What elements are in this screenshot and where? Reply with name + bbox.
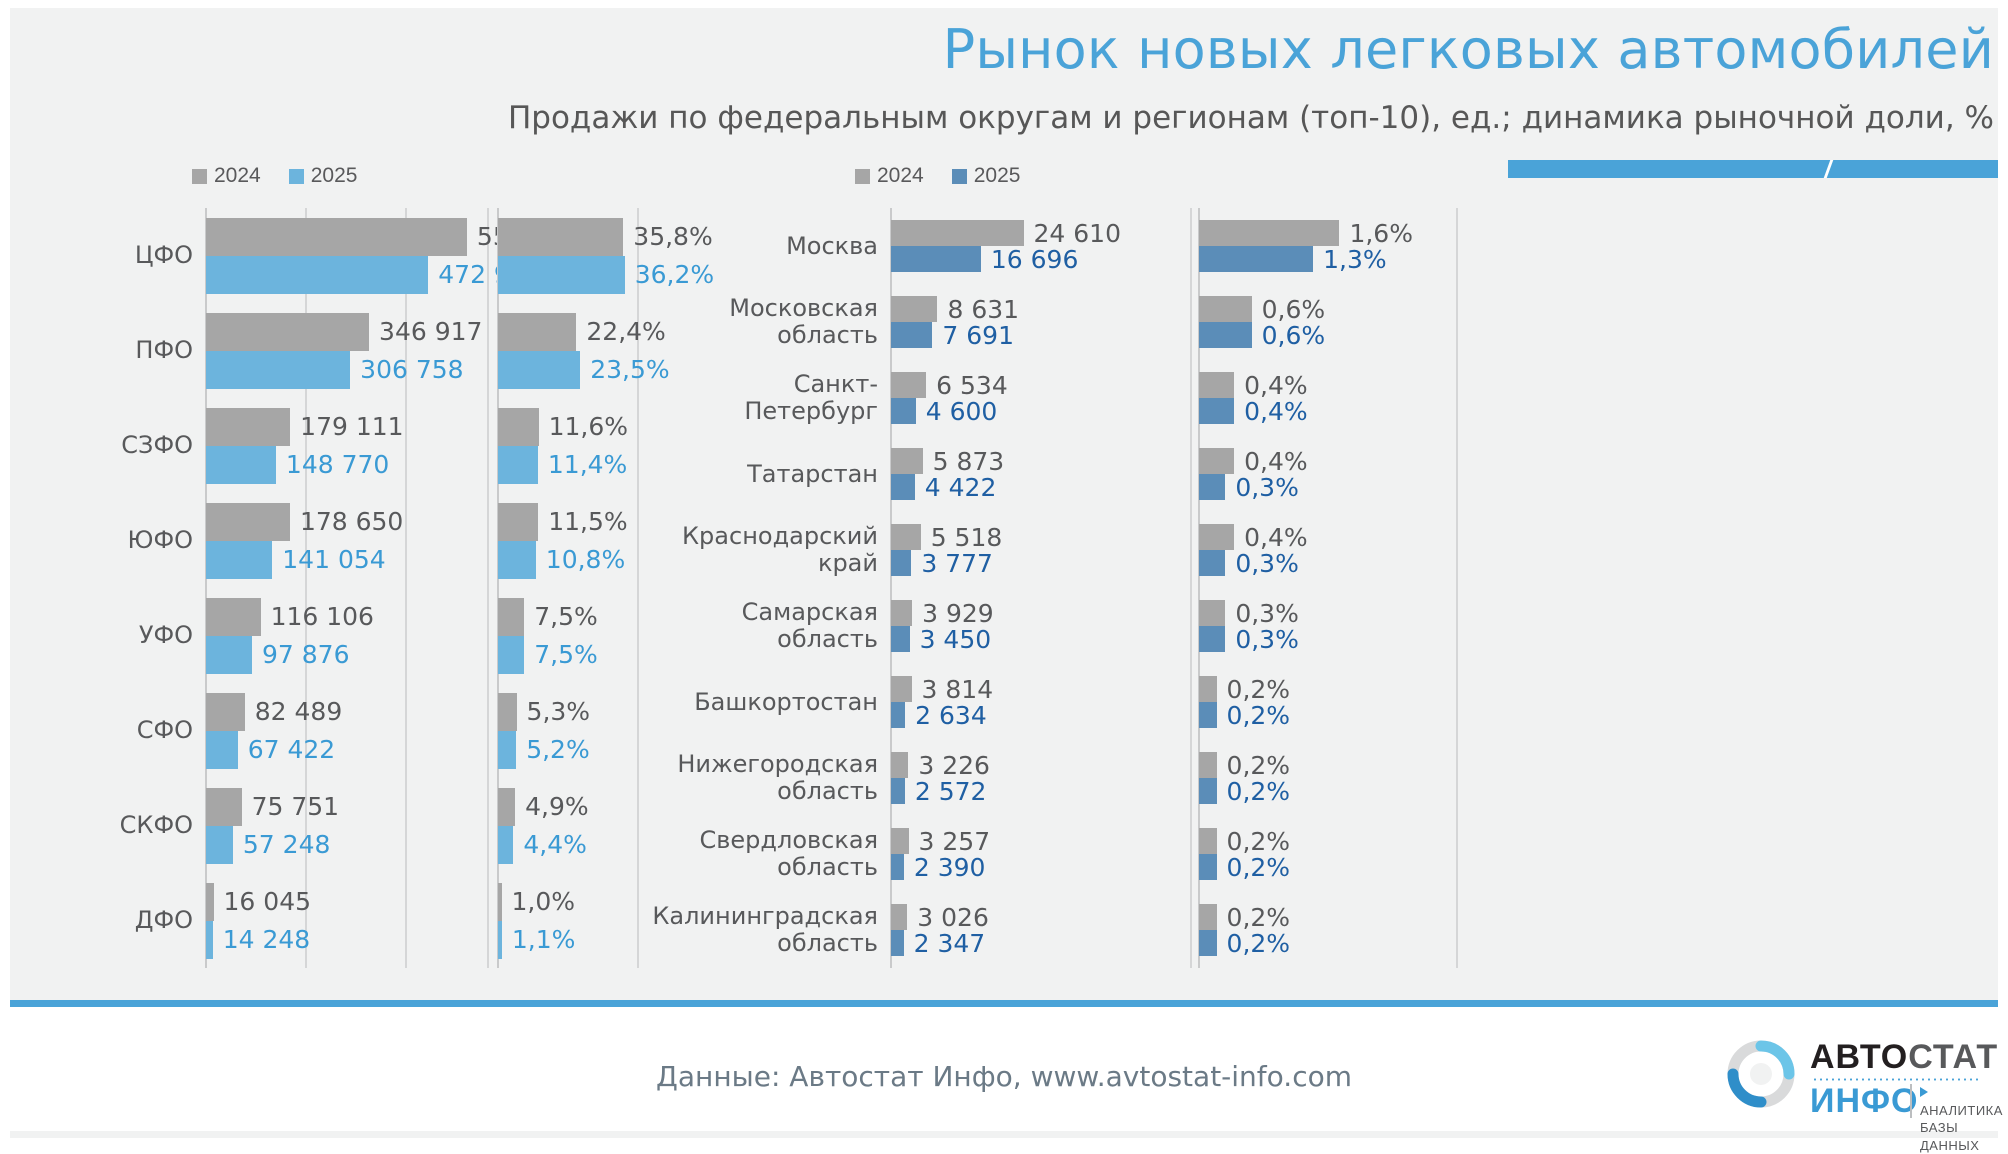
value-label-2024: 1,6% <box>1349 220 1413 246</box>
value-label-2024: 11,6% <box>549 408 628 446</box>
category-label: Татарстан <box>693 436 878 512</box>
chart-row: 0,4%0,3% <box>1198 512 1498 588</box>
bar-2025 <box>891 854 904 880</box>
value-label-2025: 2 390 <box>914 854 986 880</box>
page-edge-right <box>1998 0 2008 1138</box>
bar-2024 <box>206 693 245 731</box>
chart-row: СЗФО179 111148 770 <box>70 398 500 493</box>
bar-2024 <box>206 408 290 446</box>
value-label-2025: 7,5% <box>534 636 598 674</box>
chart4-plot: 1,6%1,3%0,6%0,6%0,4%0,4%0,4%0,3%0,4%0,3%… <box>1198 208 1498 968</box>
bar-2025 <box>1199 702 1217 728</box>
value-label-2024: 11,5% <box>548 503 627 541</box>
value-label-2024: 116 106 <box>271 598 374 636</box>
category-label: СФО <box>73 683 193 778</box>
value-label-2024: 75 751 <box>252 788 339 826</box>
bar-2024 <box>891 524 921 550</box>
chart-row: 0,6%0,6% <box>1198 284 1498 360</box>
category-label: ПФО <box>73 303 193 398</box>
bar-2024 <box>498 218 623 256</box>
value-label-2025: 57 248 <box>243 826 330 864</box>
value-label-2025: 141 054 <box>282 541 385 579</box>
bar-2024 <box>498 693 517 731</box>
bar-2024 <box>498 313 576 351</box>
value-label-2024: 0,2% <box>1227 904 1291 930</box>
chart-row: Самарскаяобласть3 9293 450 <box>700 588 1200 664</box>
category-label: Московскаяобласть <box>693 284 878 360</box>
value-label-2024: 6 534 <box>936 372 1008 398</box>
chart-row: 0,2%0,2% <box>1198 664 1498 740</box>
chart-okrug-sales: 2024 2025 ЦФО555 180472 923ПФО346 917306… <box>70 160 500 970</box>
category-label: ЮФО <box>73 493 193 588</box>
bar-2024 <box>891 752 908 778</box>
bar-2025 <box>1199 930 1217 956</box>
chart-row: Калининградскаяобласть3 0262 347 <box>700 892 1200 968</box>
value-label-2025: 4 600 <box>926 398 998 424</box>
logo-dotted-rule <box>1812 1078 1980 1081</box>
value-label-2024: 5,3% <box>527 693 591 731</box>
chart-row: 0,3%0,3% <box>1198 588 1498 664</box>
value-label-2024: 5 518 <box>931 524 1003 550</box>
chart-row: Татарстан5 8734 422 <box>700 436 1200 512</box>
value-label-2024: 178 650 <box>300 503 403 541</box>
bar-2025 <box>1199 626 1225 652</box>
bar-2024 <box>891 904 907 930</box>
bar-2024 <box>1199 828 1217 854</box>
value-label-2024: 22,4% <box>586 313 665 351</box>
bar-2025 <box>1199 398 1234 424</box>
value-label-2025: 0,3% <box>1235 626 1299 652</box>
chart-row: ПФО346 917306 758 <box>70 303 500 398</box>
value-label-2024: 0,2% <box>1227 676 1291 702</box>
logo-tagline-line2: БАЗЫ ДАННЫХ <box>1920 1120 1979 1153</box>
value-label-2024: 0,6% <box>1262 296 1326 322</box>
bar-2024 <box>498 598 524 636</box>
bar-2025 <box>891 778 905 804</box>
legend-label-2024: 2024 <box>877 164 924 188</box>
chart3-plot: Москва24 61016 696Московскаяобласть8 631… <box>700 208 1200 968</box>
value-label-2024: 0,2% <box>1227 828 1291 854</box>
bar-2025 <box>1199 778 1217 804</box>
logo-tagline: АНАЛИТИКА БАЗЫ ДАННЫХ <box>1920 1084 2003 1154</box>
value-label-2024: 0,2% <box>1227 752 1291 778</box>
value-label-2024: 3 226 <box>918 752 990 778</box>
chart-row: Нижегородскаяобласть3 2262 572 <box>700 740 1200 816</box>
value-label-2024: 24 610 <box>1034 220 1121 246</box>
bar-2025 <box>498 541 536 579</box>
category-label: СКФО <box>73 778 193 873</box>
bar-2025 <box>206 921 213 959</box>
bar-2024 <box>891 448 923 474</box>
chart-region-share: 1,6%1,3%0,6%0,6%0,4%0,4%0,4%0,3%0,4%0,3%… <box>1198 160 1498 970</box>
bar-2025 <box>891 322 932 348</box>
chart-row: 0,2%0,2% <box>1198 892 1498 968</box>
bar-2024 <box>498 788 515 826</box>
value-label-2024: 8 631 <box>947 296 1019 322</box>
bar-2024 <box>1199 904 1217 930</box>
bar-2025 <box>1199 322 1252 348</box>
legend-item-2025: 2025 <box>952 164 1021 188</box>
bar-2025 <box>1199 550 1225 576</box>
category-label: Самарскаяобласть <box>693 588 878 664</box>
bar-2024 <box>891 372 926 398</box>
value-label-2025: 0,3% <box>1235 550 1299 576</box>
value-label-2025: 14 248 <box>223 921 310 959</box>
bar-2025 <box>498 921 502 959</box>
bar-2025 <box>891 930 904 956</box>
value-label-2025: 5,2% <box>526 731 590 769</box>
bar-2025 <box>498 351 580 389</box>
chart-row: ЮФО178 650141 054 <box>70 493 500 588</box>
value-label-2025: 1,1% <box>512 921 576 959</box>
value-label-2025: 16 696 <box>991 246 1078 272</box>
chart-row: УФО116 10697 876 <box>70 588 500 683</box>
value-label-2024: 1,0% <box>512 883 576 921</box>
legend-item-2025: 2025 <box>289 164 358 188</box>
bar-2024 <box>891 828 909 854</box>
chart-row: Краснодарскийкрай5 5183 777 <box>700 512 1200 588</box>
value-label-2025: 11,4% <box>548 446 627 484</box>
value-label-2025: 0,2% <box>1227 702 1291 728</box>
chart1-plot: ЦФО555 180472 923ПФО346 917306 758СЗФО17… <box>70 208 500 968</box>
bar-2025 <box>206 636 252 674</box>
avtostat-info-logo: АВТОСТАТ ИНФО АНАЛИТИКА БАЗЫ ДАННЫХ <box>1720 1028 1982 1120</box>
value-label-2024: 3 814 <box>922 676 994 702</box>
legend-swatch-2025 <box>289 169 304 184</box>
value-label-2025: 0,2% <box>1227 778 1291 804</box>
bar-2025 <box>891 398 916 424</box>
logo-wordmark-top: АВТОСТАТ <box>1810 1038 1998 1077</box>
bar-2025 <box>498 446 538 484</box>
page-edge-left <box>0 0 10 1138</box>
value-label-2025: 0,2% <box>1227 854 1291 880</box>
bar-2025 <box>891 246 981 272</box>
category-label: ДФО <box>73 873 193 968</box>
bar-2024 <box>206 788 242 826</box>
chart-row: СФО82 48967 422 <box>70 683 500 778</box>
bar-2024 <box>1199 296 1252 322</box>
bar-2024 <box>206 313 369 351</box>
category-label: Москва <box>693 208 878 284</box>
header: Рынок новых легковых автомобилей Продажи… <box>0 0 2008 160</box>
bar-2024 <box>498 883 502 921</box>
bar-2024 <box>891 600 912 626</box>
chart-row: Свердловскаяобласть3 2572 390 <box>700 816 1200 892</box>
value-label-2024: 4,9% <box>525 788 589 826</box>
value-label-2025: 0,4% <box>1244 398 1308 424</box>
value-label-2025: 10,8% <box>546 541 625 579</box>
value-label-2025: 0,3% <box>1235 474 1299 500</box>
bar-2024 <box>891 676 912 702</box>
category-label: СЗФО <box>73 398 193 493</box>
bar-2025 <box>498 256 625 294</box>
footer-source-text: Данные: Автостат Инфо, www.avtostat-info… <box>0 1060 2008 1093</box>
value-label-2025: 0,2% <box>1227 930 1291 956</box>
bar-2024 <box>891 220 1024 246</box>
value-label-2025: 0,6% <box>1262 322 1326 348</box>
bar-2025 <box>206 351 350 389</box>
chart-region-sales: 2024 2025 Москва24 61016 696Московскаяоб… <box>700 160 1200 970</box>
bar-2025 <box>206 541 272 579</box>
value-label-2025: 3 450 <box>920 626 992 652</box>
category-label: ЦФО <box>73 208 193 303</box>
bar-2024 <box>1199 220 1339 246</box>
footer-accent-rule <box>10 1000 1998 1007</box>
page-subtitle: Продажи по федеральным округам и региона… <box>508 100 1994 136</box>
chart-row: 0,4%0,3% <box>1198 436 1498 512</box>
chart-row: Москва24 61016 696 <box>700 208 1200 284</box>
legend-swatch-2024 <box>192 169 207 184</box>
bar-2025 <box>498 636 524 674</box>
bar-2024 <box>1199 524 1234 550</box>
bar-2024 <box>206 883 214 921</box>
bar-2025 <box>891 702 905 728</box>
logo-play-triangle-icon <box>1920 1087 1928 1097</box>
bar-2024 <box>1199 448 1234 474</box>
value-label-2024: 346 917 <box>379 313 482 351</box>
header-accent-bar <box>1508 160 1998 178</box>
logo-word-avto: АВТО <box>1810 1038 1908 1076</box>
chart-row: 0,4%0,4% <box>1198 360 1498 436</box>
category-label: Калининградскаяобласть <box>693 892 878 968</box>
bar-2024 <box>206 598 261 636</box>
chart-row: 0,2%0,2% <box>1198 816 1498 892</box>
value-label-2024: 3 929 <box>922 600 994 626</box>
legend-swatch-2025 <box>952 169 967 184</box>
category-label: Свердловскаяобласть <box>693 816 878 892</box>
legend-label-2024: 2024 <box>214 164 261 188</box>
bar-2024 <box>498 408 539 446</box>
chart-row: Санкт-Петербург6 5344 600 <box>700 360 1200 436</box>
chart3-legend: 2024 2025 <box>855 164 1020 188</box>
value-label-2025: 3 777 <box>921 550 993 576</box>
logo-swirl-icon <box>1720 1034 1802 1114</box>
infographic-page: Рынок новых легковых автомобилей Продажи… <box>0 0 2008 1138</box>
bar-2025 <box>1199 246 1313 272</box>
chart-row: Башкортостан3 8142 634 <box>700 664 1200 740</box>
value-label-2025: 148 770 <box>286 446 389 484</box>
bar-2024 <box>891 296 937 322</box>
value-label-2024: 3 026 <box>917 904 989 930</box>
chart-row: ЦФО555 180472 923 <box>70 208 500 303</box>
chart-row: 0,2%0,2% <box>1198 740 1498 816</box>
value-label-2024: 0,4% <box>1244 448 1308 474</box>
bar-2024 <box>498 503 538 541</box>
chart-row: СКФО75 75157 248 <box>70 778 500 873</box>
value-label-2025: 2 347 <box>914 930 986 956</box>
bar-2025 <box>498 826 513 864</box>
bar-2024 <box>1199 600 1225 626</box>
value-label-2025: 2 572 <box>915 778 987 804</box>
value-label-2024: 179 111 <box>300 408 403 446</box>
chart-row: Московскаяобласть8 6317 691 <box>700 284 1200 360</box>
legend-item-2024: 2024 <box>855 164 924 188</box>
chart1-legend: 2024 2025 <box>192 164 357 188</box>
bar-2024 <box>206 503 290 541</box>
bar-2024 <box>206 218 467 256</box>
category-label: Санкт-Петербург <box>693 360 878 436</box>
value-label-2024: 16 045 <box>224 883 311 921</box>
legend-swatch-2024 <box>855 169 870 184</box>
bar-2025 <box>206 256 428 294</box>
value-label-2025: 97 876 <box>262 636 349 674</box>
value-label-2025: 67 422 <box>248 731 335 769</box>
value-label-2025: 23,5% <box>590 351 669 389</box>
bar-2025 <box>891 474 915 500</box>
value-label-2024: 82 489 <box>255 693 342 731</box>
value-label-2024: 0,4% <box>1244 372 1308 398</box>
bar-2024 <box>1199 752 1217 778</box>
chart-row: 1,6%1,3% <box>1198 208 1498 284</box>
bar-2025 <box>206 446 276 484</box>
value-label-2024: 5 873 <box>933 448 1005 474</box>
value-label-2024: 3 257 <box>919 828 991 854</box>
legend-label-2025: 2025 <box>311 164 358 188</box>
bar-2024 <box>1199 372 1234 398</box>
bar-2025 <box>891 550 911 576</box>
bar-2025 <box>891 626 910 652</box>
bar-2025 <box>206 826 233 864</box>
page-title: Рынок новых легковых автомобилей <box>943 18 1994 81</box>
bar-2025 <box>1199 854 1217 880</box>
legend-label-2025: 2025 <box>974 164 1021 188</box>
category-label: Нижегородскаяобласть <box>693 740 878 816</box>
bar-2025 <box>498 731 516 769</box>
logo-divider <box>1910 1084 1912 1118</box>
category-label: Краснодарскийкрай <box>693 512 878 588</box>
logo-word-stat: СТАТ <box>1908 1038 1998 1076</box>
value-label-2025: 4 422 <box>925 474 997 500</box>
category-label: УФО <box>73 588 193 683</box>
value-label-2025: 4,4% <box>523 826 587 864</box>
bar-2024 <box>1199 676 1217 702</box>
value-label-2024: 7,5% <box>534 598 598 636</box>
category-label: Башкортостан <box>693 664 878 740</box>
value-label-2024: 0,4% <box>1244 524 1308 550</box>
legend-item-2024: 2024 <box>192 164 261 188</box>
bar-2025 <box>1199 474 1225 500</box>
value-label-2025: 306 758 <box>360 351 463 389</box>
value-label-2025: 1,3% <box>1323 246 1387 272</box>
bar-2025 <box>206 731 238 769</box>
value-label-2025: 7 691 <box>942 322 1014 348</box>
value-label-2024: 0,3% <box>1235 600 1299 626</box>
logo-word-info: ИНФО <box>1810 1082 1918 1121</box>
value-label-2025: 2 634 <box>915 702 987 728</box>
logo-tagline-line1: АНАЛИТИКА <box>1920 1103 2003 1118</box>
chart-row: ДФО16 04514 248 <box>70 873 500 968</box>
